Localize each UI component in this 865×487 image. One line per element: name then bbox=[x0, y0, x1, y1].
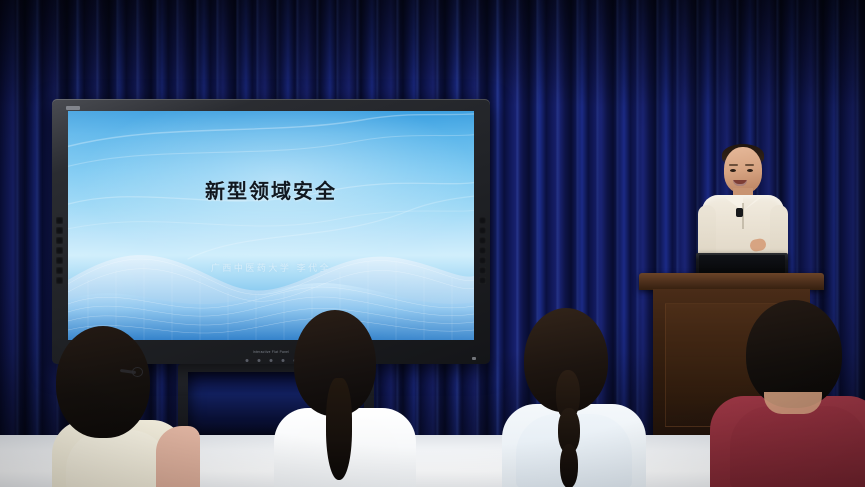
power-icon[interactable] bbox=[246, 359, 249, 362]
power-led-indicator bbox=[472, 357, 476, 360]
attendee-1-arm bbox=[156, 426, 200, 487]
list-item bbox=[270, 310, 420, 487]
list-item bbox=[498, 308, 650, 487]
lectern-top bbox=[639, 273, 824, 290]
slide-screen-reflection bbox=[68, 111, 474, 340]
video-frame: 新型领域安全 广西中医药大学 李代全 2025.07 bbox=[0, 0, 865, 487]
menu-icon[interactable] bbox=[258, 359, 261, 362]
attendee-1-top bbox=[66, 430, 170, 487]
list-item bbox=[44, 326, 194, 487]
presenter bbox=[700, 147, 786, 267]
presenter-eye-left bbox=[730, 169, 736, 172]
attendee-4-neck bbox=[764, 392, 822, 414]
presenter-brow-right bbox=[745, 164, 754, 166]
speaker-grille-left-icon bbox=[56, 217, 63, 284]
lapel-microphone-icon bbox=[736, 208, 743, 217]
attendee-1-glasses-lens bbox=[132, 367, 143, 377]
attendee-2-ponytail bbox=[326, 378, 352, 480]
presentation-slide[interactable]: 新型领域安全 广西中医药大学 李代全 2025.07 bbox=[68, 111, 474, 340]
presenter-brow-left bbox=[729, 164, 738, 166]
laptop-screen bbox=[699, 255, 785, 273]
list-item bbox=[716, 300, 865, 487]
presenter-eye-right bbox=[747, 169, 753, 172]
attendee-3-braid-lower bbox=[560, 444, 578, 487]
display-logo bbox=[66, 106, 80, 110]
attendee-4-top bbox=[730, 406, 865, 487]
speaker-grille-right-icon bbox=[479, 217, 486, 284]
attendee-1-hair bbox=[56, 326, 150, 438]
